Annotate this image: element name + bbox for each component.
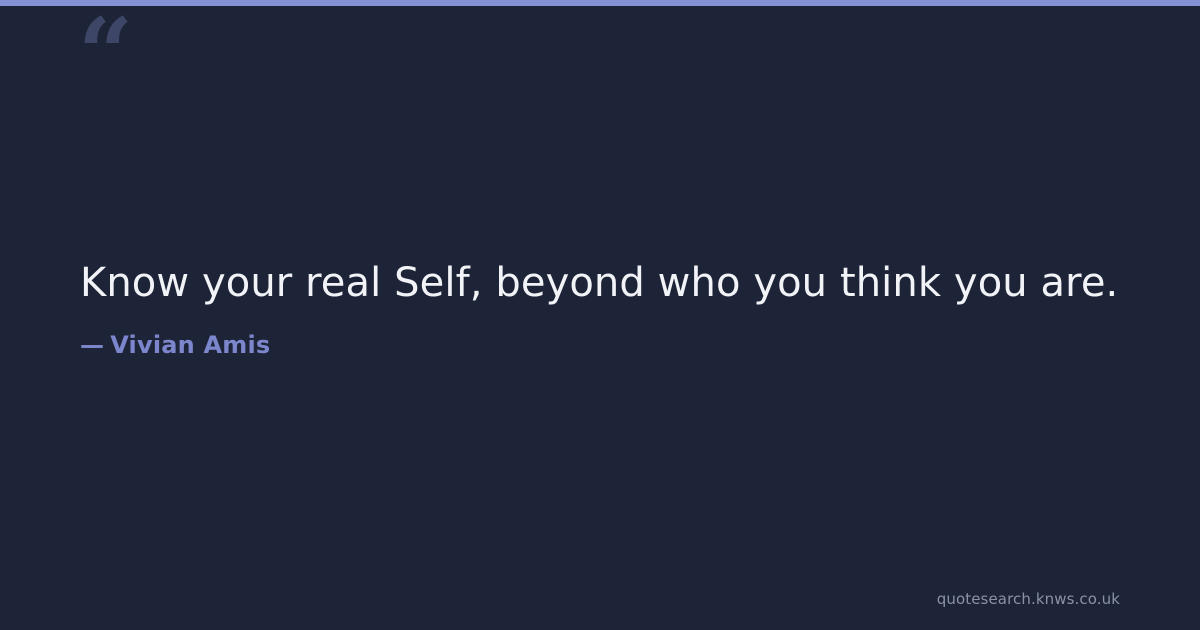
quote-card: “ Know your real Self, beyond who you th…	[0, 0, 1200, 630]
top-accent-bar	[0, 0, 1200, 6]
source-watermark: quotesearch.knws.co.uk	[937, 590, 1120, 608]
attribution-author: Vivian Amis	[110, 331, 270, 359]
opening-quote-icon: “	[78, 6, 131, 102]
quote-content: Know your real Self, beyond who you thin…	[80, 258, 1120, 359]
quote-attribution: —Vivian Amis	[80, 331, 1120, 359]
quote-text: Know your real Self, beyond who you thin…	[80, 258, 1120, 309]
attribution-dash: —	[80, 331, 104, 359]
